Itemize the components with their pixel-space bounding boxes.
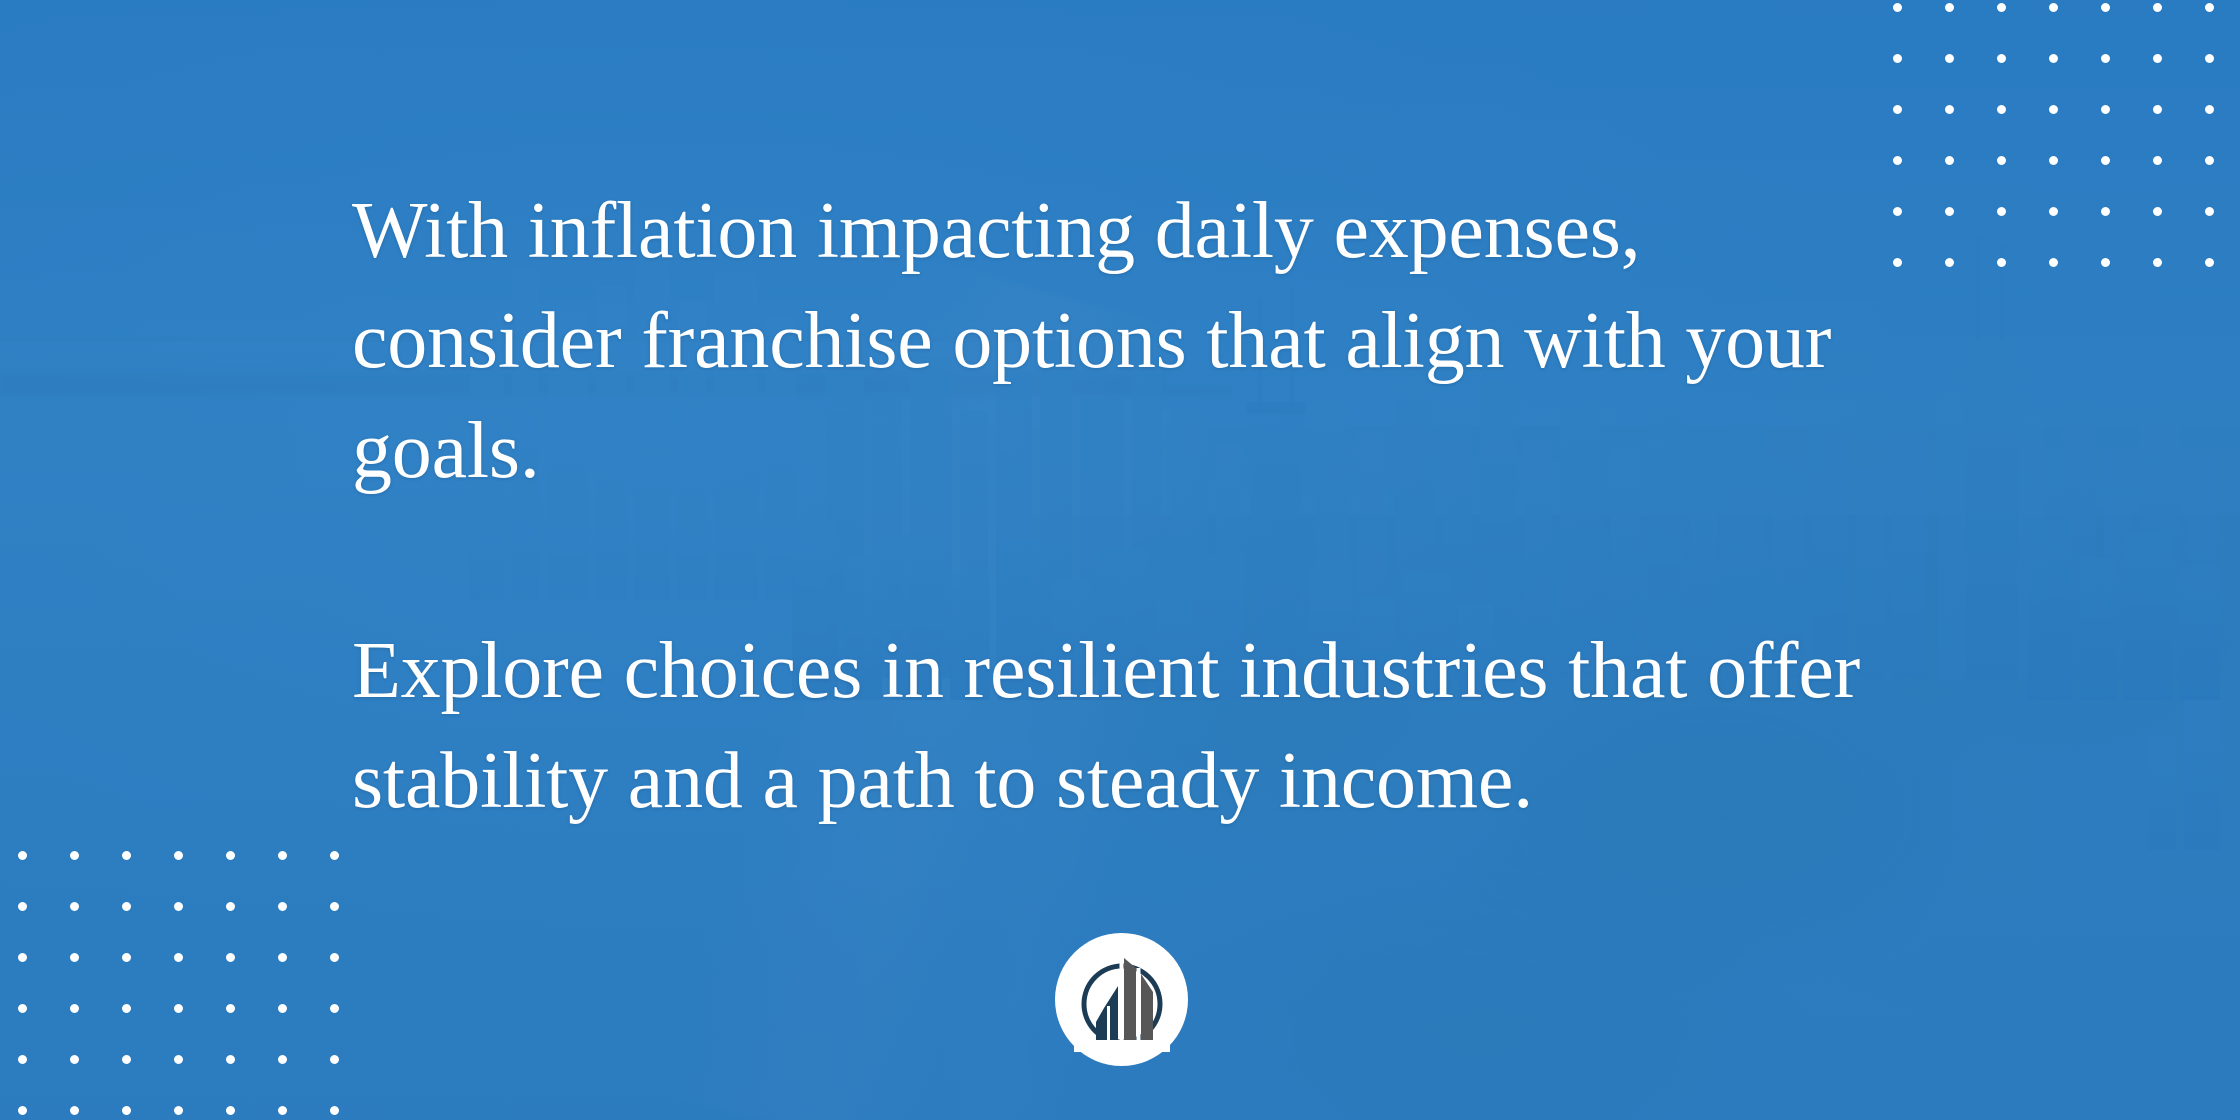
social-graphic-canvas: With inflation impacting daily expenses,… [0,0,2240,1120]
paragraph-2: Explore choices in resilient industries … [352,616,1912,836]
building-logo-icon [1074,948,1170,1052]
brand-logo-badge [1055,933,1188,1066]
headline-content: With inflation impacting daily expenses,… [352,176,1912,836]
paragraph-1: With inflation impacting daily expenses,… [352,176,1912,506]
